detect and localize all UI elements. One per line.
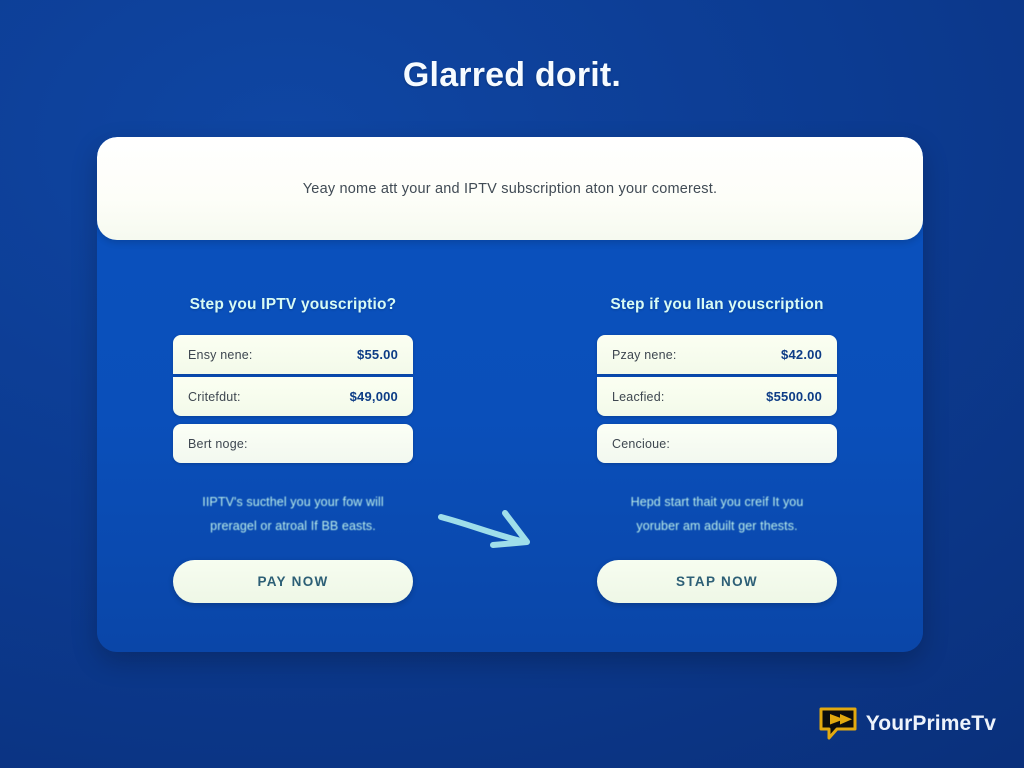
column-left-rows: Ensy nene: $55.00 Critefdut: $49,000 Ber… [173,335,413,463]
row-label: Critefdut: [188,390,241,404]
page-root: Glarred dorit. Yeay nome att your and IP… [0,0,1024,768]
row-value: $49,000 [350,389,398,404]
info-banner-text: Yeay nome att your and IPTV subscription… [303,181,717,197]
column-right-rows: Pzay nene: $42.00 Leacfied: $5500.00 Cen… [597,335,837,463]
stap-now-button[interactable]: STAP NOW [597,560,837,603]
play-bubble-icon [819,707,857,740]
table-row[interactable]: Critefdut: $49,000 [173,377,413,416]
page-title: Glarred dorit. [0,56,1024,95]
row-value: $5500.00 [766,389,822,404]
table-row[interactable]: Cencioue: [597,424,837,463]
row-value: $42.00 [781,347,822,362]
column-right: Step if you IIan youscription Pzay nene:… [597,240,837,603]
columns-container: Step you IPTV youscriptio? Ensy nene: $5… [97,240,923,652]
row-label: Cencioue: [612,437,670,451]
note-line-2: preragel or atroal If BB easts. [173,514,413,538]
column-left-note: IIPTV's sucthel you your fow will prerag… [173,490,413,538]
table-row[interactable]: Ensy nene: $55.00 [173,335,413,374]
column-left: Step you IPTV youscriptio? Ensy nene: $5… [173,240,413,603]
table-row[interactable]: Bert noge: [173,424,413,463]
column-right-note: Hepd start thait you creif It you yorube… [597,490,837,538]
column-left-heading: Step you IPTV youscriptio? [173,296,413,314]
footer-logo: YourPrimeTv [819,707,996,740]
note-line-2: yoruber am aduilt ger thests. [597,514,837,538]
table-row[interactable]: Leacfied: $5500.00 [597,377,837,416]
row-label: Bert noge: [188,437,248,451]
column-right-heading: Step if you IIan youscription [597,296,837,314]
right-arrow-icon [437,495,547,555]
row-label: Pzay nene: [612,348,677,362]
pay-now-button[interactable]: PAY NOW [173,560,413,603]
logo-text: YourPrimeTv [866,712,996,736]
row-value: $55.00 [357,347,398,362]
main-card: Yeay nome att your and IPTV subscription… [97,137,923,652]
info-banner: Yeay nome att your and IPTV subscription… [97,137,923,240]
note-line-1: IIPTV's sucthel you your fow will [173,490,413,514]
note-line-1: Hepd start thait you creif It you [597,490,837,514]
row-label: Ensy nene: [188,348,253,362]
table-row[interactable]: Pzay nene: $42.00 [597,335,837,374]
row-label: Leacfied: [612,390,665,404]
